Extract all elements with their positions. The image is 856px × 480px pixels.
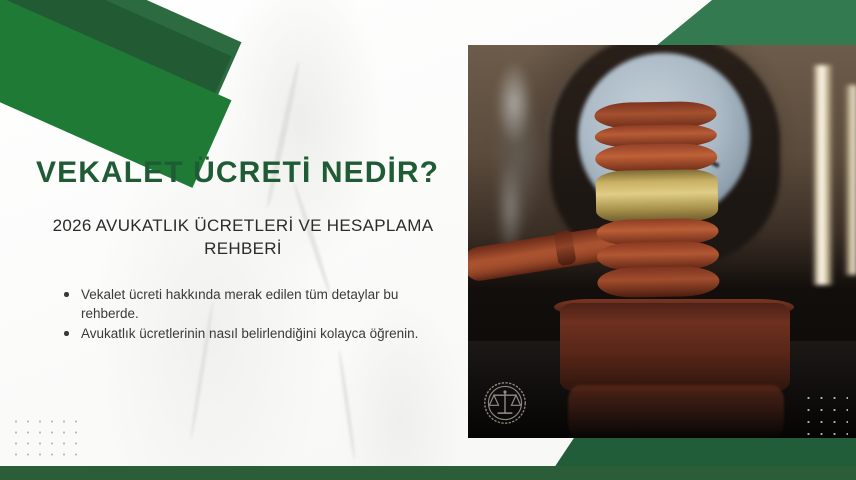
background-post [812,65,834,285]
sounding-block-reflection [568,385,784,438]
gavel-photo [468,45,856,438]
bottom-green-band [0,466,856,480]
page-subtitle: 2026 AVUKATLIK ÜCRETLERİ VE HESAPLAMA RE… [52,214,434,261]
dot-grid-bottom-left [8,414,84,462]
background-post-secondary [844,85,856,275]
list-item: Avukatlık ücretlerinin nasıl belirlendiğ… [62,324,432,343]
text-column: VEKALET ÜCRETİ NEDİR? 2026 AVUKATLIK ÜCR… [0,0,468,480]
gavel-brass-band [595,169,718,223]
slide-canvas: VEKALET ÜCRETİ NEDİR? 2026 AVUKATLIK ÜCR… [0,0,856,480]
list-item: Vekalet ücreti hakkında merak edilen tüm… [62,285,432,323]
gavel-segment-e [597,266,720,298]
dot-grid-photo [802,392,848,436]
corner-decoration-top-right [656,0,856,46]
scales-of-justice-icon [482,380,528,426]
bullet-list: Vekalet ücreti hakkında merak edilen tüm… [62,285,432,344]
gavel-head [594,101,719,303]
sounding-block [560,303,790,391]
gavel-segment-b [595,143,717,173]
page-title: VEKALET ÜCRETİ NEDİR? [36,156,456,191]
